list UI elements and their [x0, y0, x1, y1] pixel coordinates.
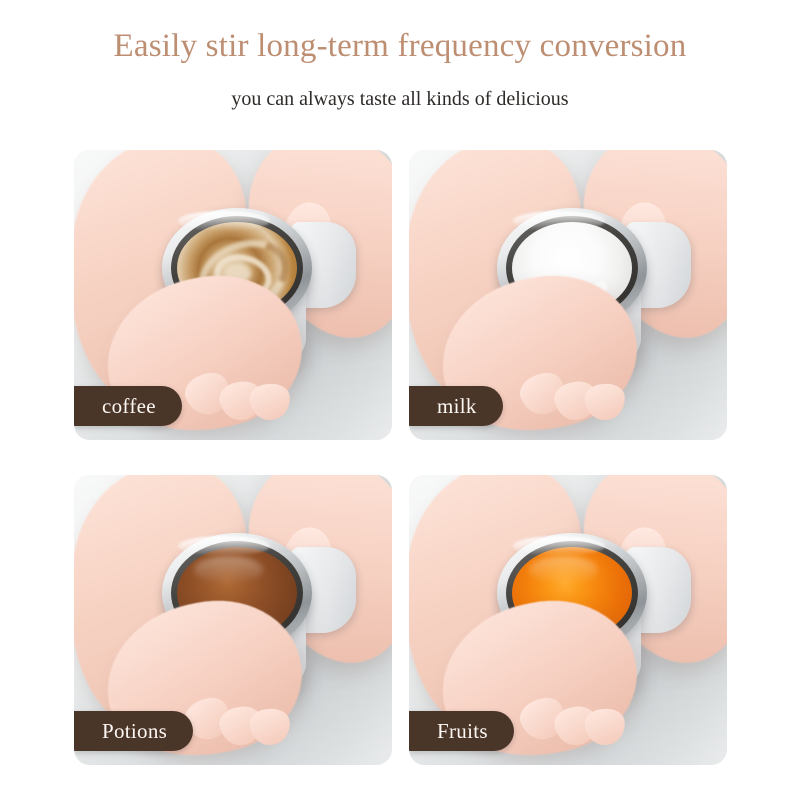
caption-badge-fruits: Fruits	[409, 711, 514, 751]
liquid-reflection	[194, 556, 264, 584]
rim-highlight	[178, 536, 270, 556]
page-subtitle: you can always taste all kinds of delici…	[0, 86, 800, 112]
caption-badge-potions: Potions	[74, 711, 193, 751]
photo-panel-potions[interactable]: Potions	[74, 475, 392, 765]
liquid-reflection	[529, 556, 599, 584]
photo-panel-fruits[interactable]: Fruits	[409, 475, 727, 765]
rim-highlight	[513, 536, 605, 556]
rim-highlight	[178, 211, 270, 231]
photo-panel-coffee[interactable]: coffee	[74, 150, 392, 440]
product-photo-grid: coffee	[74, 150, 727, 765]
caption-badge-milk: milk	[409, 386, 503, 426]
rim-highlight	[513, 211, 605, 231]
caption-badge-coffee: coffee	[74, 386, 182, 426]
photo-panel-milk[interactable]: milk	[409, 150, 727, 440]
promo-header: Easily stir long-term frequency conversi…	[0, 0, 800, 112]
page-title: Easily stir long-term frequency conversi…	[0, 26, 800, 66]
